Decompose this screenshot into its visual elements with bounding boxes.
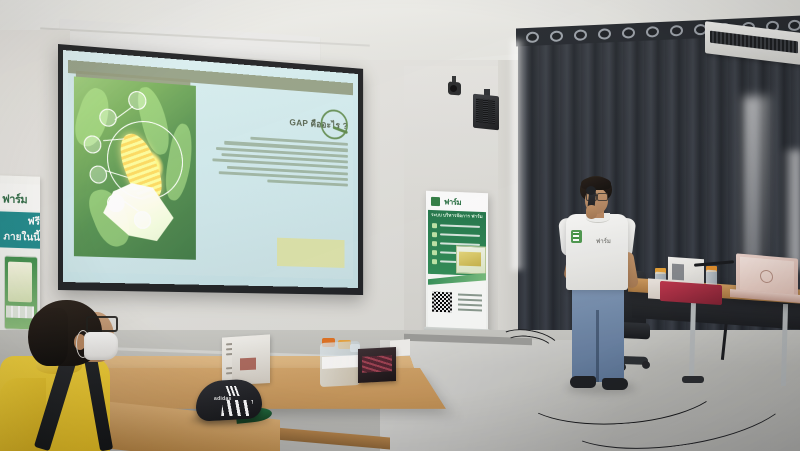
qr-code-icon: [432, 292, 452, 313]
poster-brand-label: ฟาร์ม: [2, 189, 38, 208]
poster-icon-row: [6, 306, 34, 319]
slide-body-text: [207, 131, 348, 187]
diagram-node-icon: [84, 135, 102, 154]
diagram-node-icon: [90, 165, 107, 184]
banner-brand-label: ฟาร์ม: [444, 196, 484, 210]
presenter-hand: [586, 205, 597, 219]
slide-green-block: [277, 238, 344, 268]
presentation-room-photo: GAP คืออะไร ? ฟาร์ม ฟรี ภายในนี้ ฟาร์ม ร…: [0, 0, 800, 451]
camera-lens: [450, 85, 457, 92]
tshirt-brand-label: ฟาร์ม: [596, 236, 624, 246]
white-box-graphic: [672, 264, 684, 281]
side-desk-foot: [682, 376, 704, 383]
presenter-shoe: [570, 376, 596, 388]
diagram-node-icon: [134, 211, 151, 229]
speaker-grill: [476, 98, 495, 124]
banner-product-image: [459, 252, 481, 267]
adidas-logo-icon: [218, 386, 240, 396]
product-box-graphic: [362, 355, 392, 373]
presenter-jeans-seam: [596, 310, 599, 382]
presenter-shoe: [602, 378, 628, 390]
tshirt-logo-detail: [573, 232, 579, 241]
poster-band-line2: ภายในนี้: [0, 229, 40, 245]
glasses-icon: [597, 193, 608, 201]
glasses-icon: [86, 316, 118, 332]
window-light-leak: [744, 96, 770, 277]
bottle-label: [322, 355, 358, 369]
brochure-image: [240, 358, 256, 371]
laptop-brand-logo-icon: [760, 269, 773, 283]
window-light-leak: [512, 40, 526, 271]
face-mask-icon: [84, 332, 118, 360]
banner-logo-icon: [431, 197, 440, 206]
q-certification-logo-icon: [321, 109, 348, 141]
diagram-node-icon: [107, 194, 124, 213]
diagram-node-icon: [99, 108, 116, 127]
poster-band-line1: ฟรี: [0, 213, 40, 229]
window-light-leak: [782, 150, 800, 270]
microphone-head: [586, 186, 596, 195]
presenter-tshirt: [566, 214, 628, 290]
presentation-slide: GAP คืออะไร ?: [68, 60, 353, 279]
attendee-hair-side: [28, 308, 68, 366]
poster-phone-screen: [8, 262, 32, 303]
cap-stripes: [221, 400, 253, 416]
red-package: [660, 281, 722, 305]
slide-photo-corn: [74, 76, 196, 259]
